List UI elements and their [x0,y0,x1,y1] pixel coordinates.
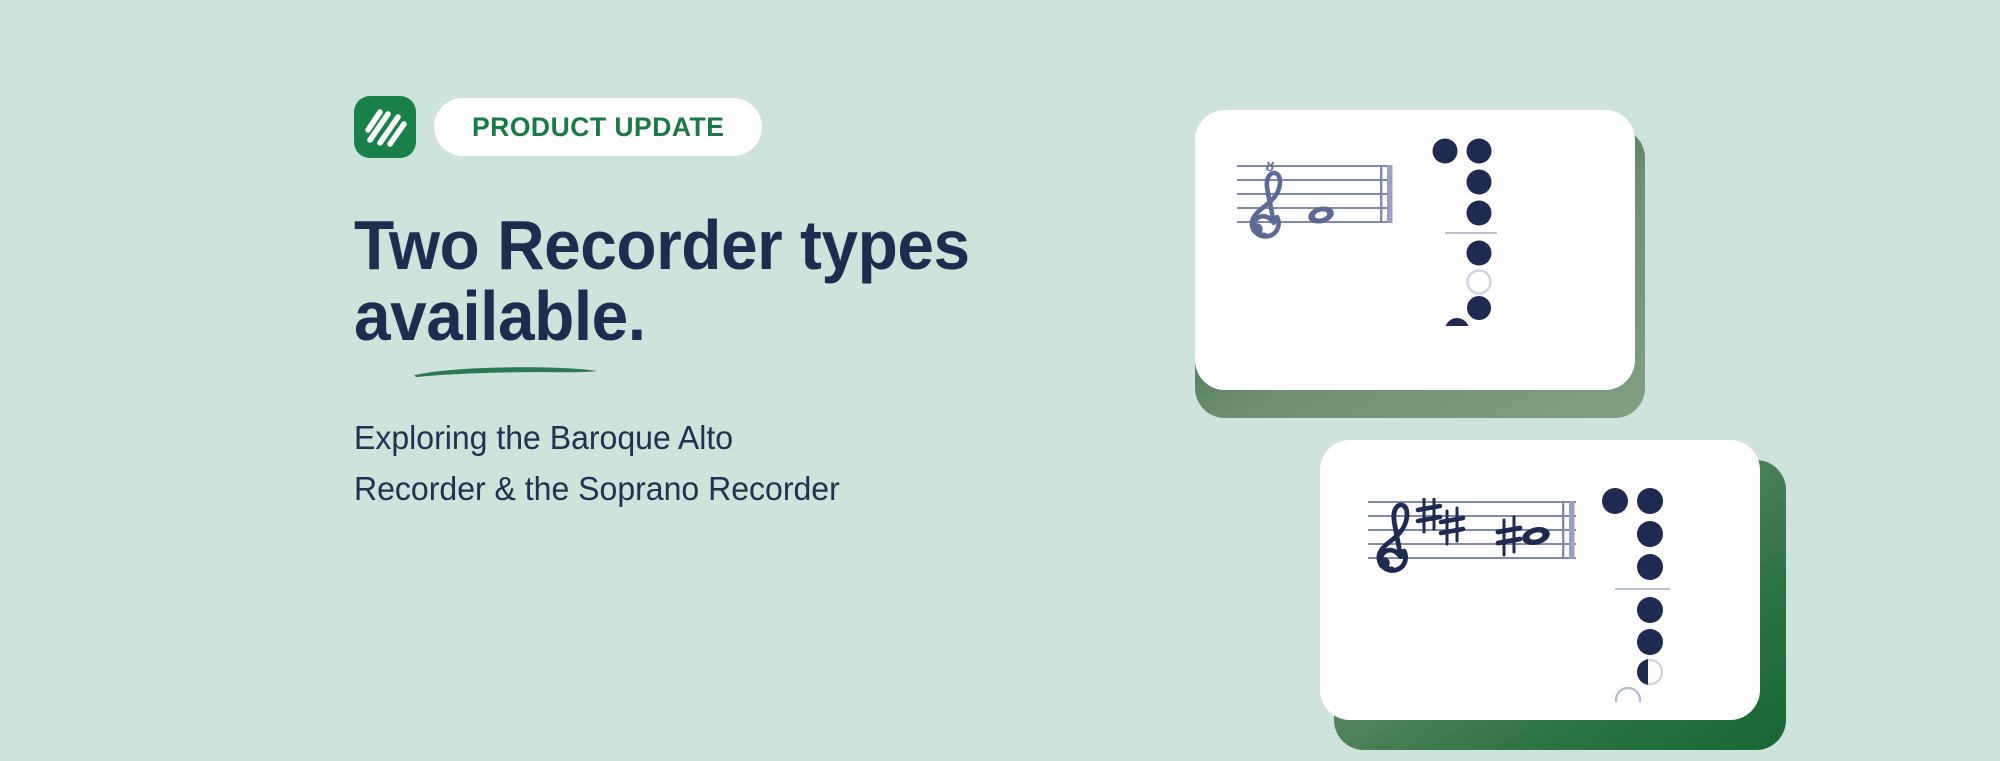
hole-1-closed [1467,139,1492,164]
banner-text-column: PRODUCT UPDATE Two Recorder types availa… [354,96,1094,514]
hole-2-closed [1637,521,1663,547]
hole-4-closed [1637,597,1663,623]
alto-recorder-card[interactable]: 8 [1195,110,1635,390]
brand-logo [354,96,416,158]
soprano-fingering-chart [1592,486,1684,707]
hole-3-closed [1467,201,1492,226]
octave-marking-8: 8 [1266,162,1275,175]
thumb-hole-closed [1602,488,1628,514]
banner-subtitle: Exploring the Baroque Alto Recorder & th… [354,413,1072,515]
hole-7-closed [1445,318,1469,326]
hole-6-closed [1467,296,1491,320]
key-signature-sharp-2 [1441,508,1463,544]
soprano-recorder-card-wrapper [1320,430,1900,760]
note-accidental-sharp [1498,517,1520,555]
product-update-badge-label: PRODUCT UPDATE [472,112,724,143]
hole-1-closed [1637,488,1663,514]
brush-stroke-underline-icon [412,365,600,379]
soprano-recorder-card[interactable] [1320,440,1760,720]
product-update-badge: PRODUCT UPDATE [434,98,762,156]
alto-recorder-card-wrapper: 8 [1185,100,1655,430]
alto-fingering-chart [1423,136,1513,331]
diagonal-stripes-logo-icon [354,96,416,158]
clef-dot [1378,557,1390,569]
hole-4-closed [1467,241,1492,266]
thumb-hole-closed [1433,139,1458,164]
hole-3-closed [1637,554,1663,580]
clef-dot [1251,223,1262,234]
hole-2-closed [1467,170,1492,195]
hole-6-half [1637,659,1663,685]
soprano-staff-notation [1368,498,1580,589]
hole-5-closed [1637,629,1663,655]
page-title: Two Recorder types available. [354,210,1050,353]
hole-7-open [1616,688,1640,702]
product-update-banner: PRODUCT UPDATE Two Recorder types availa… [0,0,2000,761]
hole-5-open [1468,271,1491,294]
badge-row: PRODUCT UPDATE [354,96,1094,158]
alto-staff-notation: 8 [1237,162,1395,249]
